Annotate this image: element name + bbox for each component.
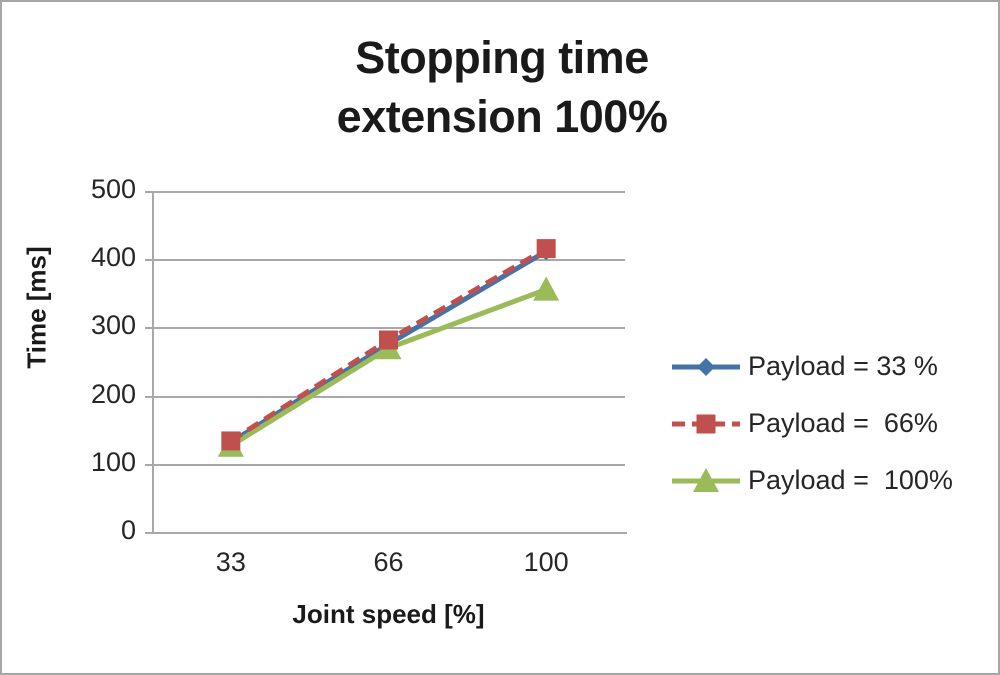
x-tick-label: 33 [171,547,291,578]
y-tick-label: 200 [74,379,136,410]
y-tick-mark [145,191,153,193]
legend-item-2[interactable]: Payload = 66% [670,395,990,452]
legend-swatch-triangle-icon [670,468,742,494]
y-tick-label: 500 [74,174,136,205]
legend-label: Payload = 66% [748,408,938,439]
y-tick-mark [145,327,153,329]
chart-legend: Payload = 33 %Payload = 66%Payload = 100… [670,338,990,509]
gridline [152,191,625,193]
gridline [152,327,625,329]
legend-item-1[interactable]: Payload = 33 % [670,338,990,395]
x-tick-label: 66 [329,547,449,578]
legend-label: Payload = 100% [748,465,953,496]
legend-swatch-diamond-icon [670,354,742,380]
y-axis-title: Time [ms] [22,218,53,398]
y-tick-mark [145,396,153,398]
x-axis-title: Joint speed [%] [152,599,625,630]
legend-label: Payload = 33 % [748,351,938,382]
chart-title-line-1: Stopping time [122,28,882,87]
y-tick-mark [145,532,153,534]
gridline [152,464,625,466]
chart-title-line-2: extension 100% [122,87,882,146]
legend-item-3[interactable]: Payload = 100% [670,452,990,509]
legend-swatch-square-icon [670,411,742,437]
plot-area [152,192,625,533]
square-marker [697,414,716,433]
chart-container: Stopping time extension 100% Time [ms] J… [0,0,1000,675]
y-tick-mark [145,259,153,261]
chart-title: Stopping time extension 100% [122,28,882,147]
x-tick-label: 100 [486,547,606,578]
y-tick-label: 300 [74,310,136,341]
y-tick-label: 0 [74,515,136,546]
gridline [152,259,625,261]
gridline [152,532,625,534]
y-tick-label: 100 [74,447,136,478]
diamond-marker [697,358,715,376]
y-tick-label: 400 [74,242,136,273]
gridline [152,396,625,398]
y-tick-mark [145,464,153,466]
